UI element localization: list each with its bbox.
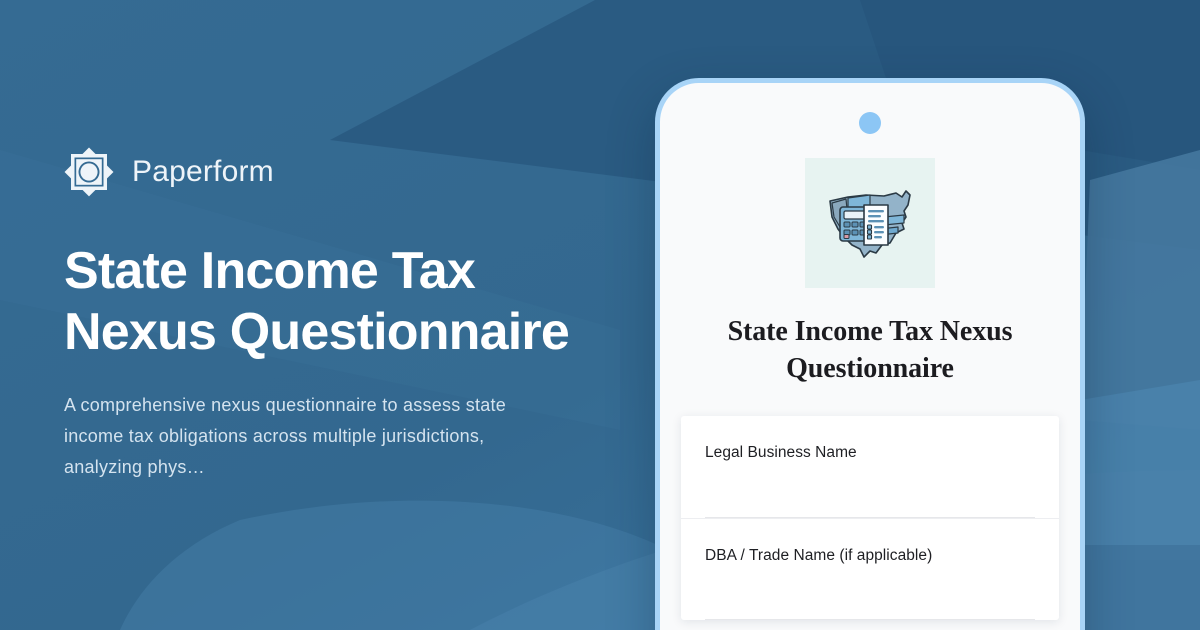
page-title: State Income Tax Nexus Questionnaire [64, 241, 594, 362]
hero-content: Paperform State Income Tax Nexus Questio… [64, 0, 624, 630]
legal-business-name-input[interactable] [705, 464, 1035, 518]
paperform-diamond-logo-icon [64, 147, 114, 197]
form-card: Legal Business Name DBA / Trade Name (if… [681, 416, 1059, 620]
page-description: A comprehensive nexus questionnaire to a… [64, 390, 554, 483]
field-label: Legal Business Name [705, 442, 1035, 464]
dba-trade-name-input[interactable] [705, 566, 1035, 620]
camera-dot-icon [859, 112, 881, 134]
form-field-dba-trade-name[interactable]: DBA / Trade Name (if applicable) [681, 518, 1059, 621]
us-map-calculator-document-illustration-icon [805, 158, 935, 288]
brand-lockup: Paperform [64, 147, 624, 197]
form-title: State Income Tax Nexus Questionnaire [690, 314, 1050, 388]
brand-name: Paperform [132, 157, 274, 187]
field-label: DBA / Trade Name (if applicable) [705, 545, 1035, 567]
phone-mockup: State Income Tax Nexus Questionnaire Leg… [655, 78, 1085, 630]
form-field-legal-business-name[interactable]: Legal Business Name [681, 416, 1059, 518]
